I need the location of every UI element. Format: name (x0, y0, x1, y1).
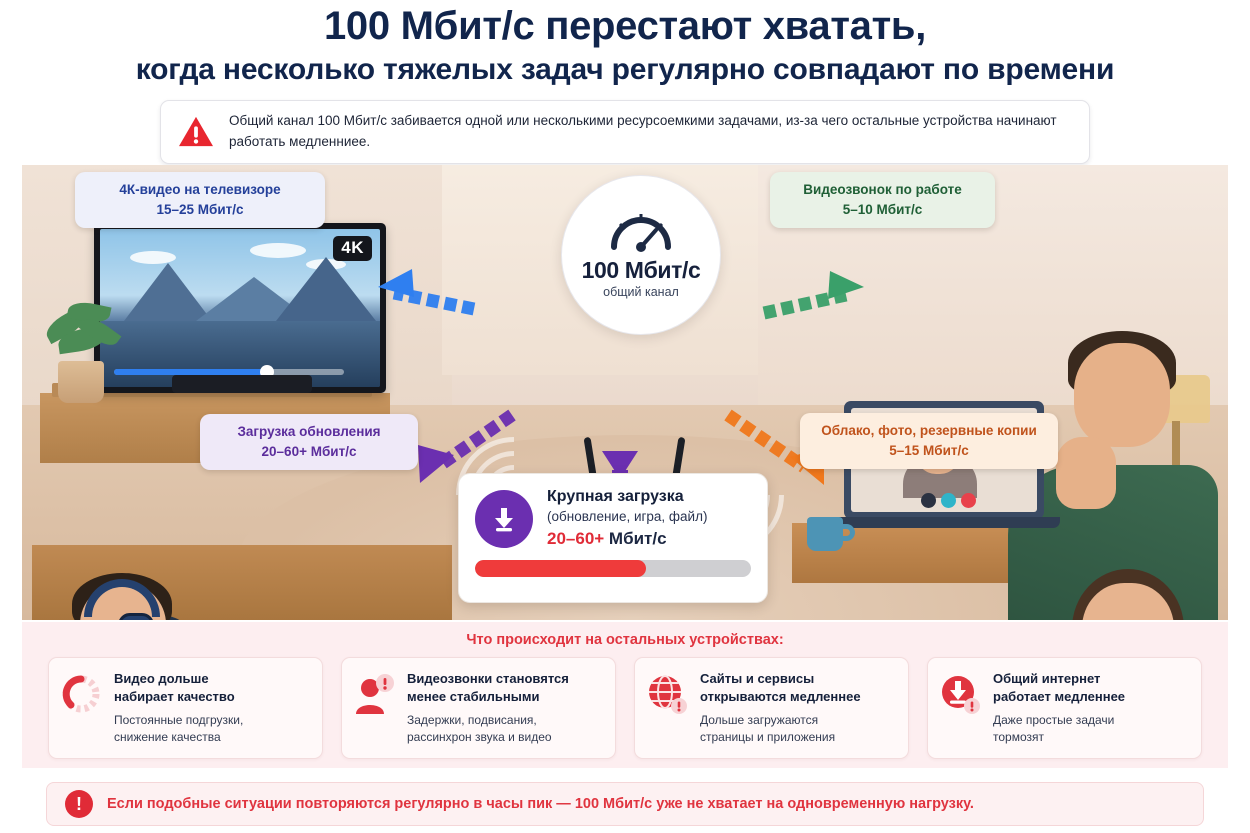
buffering-spinner-icon (59, 672, 103, 716)
consequence-desc-line-2: страницы и приложения (700, 730, 835, 744)
headphones-cup-icon (118, 613, 154, 620)
consequences-heading: Что происходит на остальных устройствах: (22, 632, 1228, 648)
consequences-card-list: Видео дольше набирает качество Постоянны… (48, 657, 1202, 759)
big-download-title: Крупная загрузка (547, 488, 707, 507)
consequence-desc-line-1: Задержки, подвисания, (407, 713, 537, 727)
consequence-card-text: Видеозвонки становятся менее стабильными… (407, 670, 569, 746)
label-tv-title: 4К-видео на телевизоре (91, 181, 309, 199)
exclamation-circle-icon: ! (65, 790, 93, 818)
big-download-speed-value: 20–60+ (547, 529, 604, 548)
consequence-title-line-2: менее стабильными (407, 689, 539, 704)
consequence-desc-line-1: Постоянные подгрузки, (114, 713, 243, 727)
label-tv-4k-video: 4К-видео на телевизоре 15–25 Мбит/с (75, 172, 325, 228)
consequence-card-text: Общий интернет работает медленнее Даже п… (993, 670, 1125, 746)
consequence-title-line-1: Сайты и сервисы (700, 671, 814, 686)
consequence-title: Общий интернет работает медленнее (993, 670, 1125, 705)
coffee-mug (807, 517, 843, 551)
consequences-panel: Что происходит на остальных устройствах:… (22, 622, 1228, 768)
soundbar (172, 375, 312, 393)
mountain-shape (276, 257, 376, 321)
gauge-subtitle: общий канал (603, 285, 679, 299)
consequence-title-line-2: открываются медленнее (700, 689, 861, 704)
label-tv-speed: 15–25 Мбит/с (91, 201, 309, 219)
label-cloud-title: Облако, фото, резервные копии (816, 422, 1042, 440)
speedometer-icon (608, 211, 674, 253)
consequence-title-line-1: Видеозвонки становятся (407, 671, 569, 686)
download-arrow-icon (489, 504, 519, 534)
top-warning-banner: Общий канал 100 Мбит/с забивается одной … (160, 100, 1090, 164)
label-download-title: Загрузка обновления (216, 423, 402, 441)
big-download-speed: 20–60+ Мбит/с (547, 529, 707, 549)
consequence-card-sites-slow: Сайты и сервисы открываются медленнее До… (634, 657, 909, 759)
page-title-line-2: когда несколько тяжелых задач регулярно … (0, 52, 1250, 89)
man-waving-hand (1056, 437, 1116, 509)
consequence-title-line-1: Общий интернет (993, 671, 1100, 686)
gauge-speed-value: 100 Мбит/с (582, 257, 701, 284)
page-title-line-1: 100 Мбит/с перестают хватать, (0, 4, 1250, 49)
big-download-progress-fill (475, 560, 646, 577)
consequence-card-text: Сайты и сервисы открываются медленнее До… (700, 670, 861, 746)
big-download-subtitle: (обновление, игра, файл) (547, 508, 707, 526)
label-cloud-speed: 5–15 Мбит/с (816, 442, 1042, 460)
download-circle-icon (475, 490, 533, 548)
big-download-card: Крупная загрузка (обновление, игра, файл… (458, 473, 768, 603)
label-call-speed: 5–10 Мбит/с (786, 201, 979, 219)
big-download-speed-unit: Мбит/с (604, 529, 666, 548)
label-work-videocall: Видеозвонок по работе 5–10 Мбит/с (770, 172, 995, 228)
television: 4K (94, 223, 386, 393)
download-alert-icon (938, 672, 982, 716)
label-cloud-backup: Облако, фото, резервные копии 5–15 Мбит/… (800, 413, 1058, 469)
consequence-card-videocall-stability: Видеозвонки становятся менее стабильными… (341, 657, 616, 759)
illustration-scene: 4K Загрузка обновления... 45% 12,6 ГБ из… (22, 165, 1228, 620)
consequence-desc-line-2: тормозят (993, 730, 1044, 744)
footer-conclusion-banner: ! Если подобные ситуации повторяются рег… (46, 782, 1204, 826)
consequence-title-line-1: Видео дольше (114, 671, 209, 686)
label-update-download: Загрузка обновления 20–60+ Мбит/с (200, 414, 418, 470)
speed-gauge-bubble: 100 Мбит/с общий канал (561, 175, 721, 335)
consequence-title: Видео дольше набирает качество (114, 670, 243, 705)
consequence-title: Видеозвонки становятся менее стабильными (407, 670, 569, 705)
laptop-base (828, 517, 1060, 528)
consequence-desc: Дольше загружаются страницы и приложения (700, 712, 861, 746)
consequence-card-video-quality: Видео дольше набирает качество Постоянны… (48, 657, 323, 759)
man-head (1074, 343, 1170, 447)
consequence-desc-line-1: Даже простые задачи (993, 713, 1114, 727)
consequence-title: Сайты и сервисы открываются медленнее (700, 670, 861, 705)
person-alert-icon (352, 672, 396, 716)
consequence-desc-line-2: рассинхрон звука и видео (407, 730, 552, 744)
consequence-title-line-2: набирает качество (114, 689, 235, 704)
consequence-desc-line-1: Дольше загружаются (700, 713, 818, 727)
consequence-desc-line-2: снижение качества (114, 730, 221, 744)
warning-triangle-icon (177, 115, 215, 149)
label-call-title: Видеозвонок по работе (786, 181, 979, 199)
consequence-card-text: Видео дольше набирает качество Постоянны… (114, 670, 243, 746)
tv-4k-badge: 4K (333, 236, 372, 261)
plant-pot (58, 361, 104, 403)
call-end-button[interactable] (961, 493, 976, 508)
big-download-card-text: Крупная загрузка (обновление, игра, файл… (547, 488, 707, 549)
page-header: 100 Мбит/с перестают хватать, когда неск… (0, 4, 1250, 88)
top-warning-text: Общий канал 100 Мбит/с забивается одной … (229, 111, 1071, 153)
infographic-page: 100 Мбит/с перестают хватать, когда неск… (0, 0, 1250, 833)
consequence-card-internet-slow: Общий интернет работает медленнее Даже п… (927, 657, 1202, 759)
globe-alert-icon (645, 672, 689, 716)
call-info-button[interactable] (921, 493, 936, 508)
consequence-desc: Постоянные подгрузки, снижение качества (114, 712, 243, 746)
consequence-desc: Задержки, подвисания, рассинхрон звука и… (407, 712, 569, 746)
big-download-card-row: Крупная загрузка (обновление, игра, файл… (475, 488, 751, 549)
footer-conclusion-text: Если подобные ситуации повторяются регул… (107, 796, 974, 812)
tv-screen: 4K (100, 229, 380, 387)
consequence-title-line-2: работает медленнее (993, 689, 1125, 704)
label-download-speed: 20–60+ Мбит/с (216, 443, 402, 461)
call-video-button[interactable] (941, 493, 956, 508)
big-download-progress-bar (475, 560, 751, 577)
consequence-desc: Даже простые задачи тормозят (993, 712, 1125, 746)
